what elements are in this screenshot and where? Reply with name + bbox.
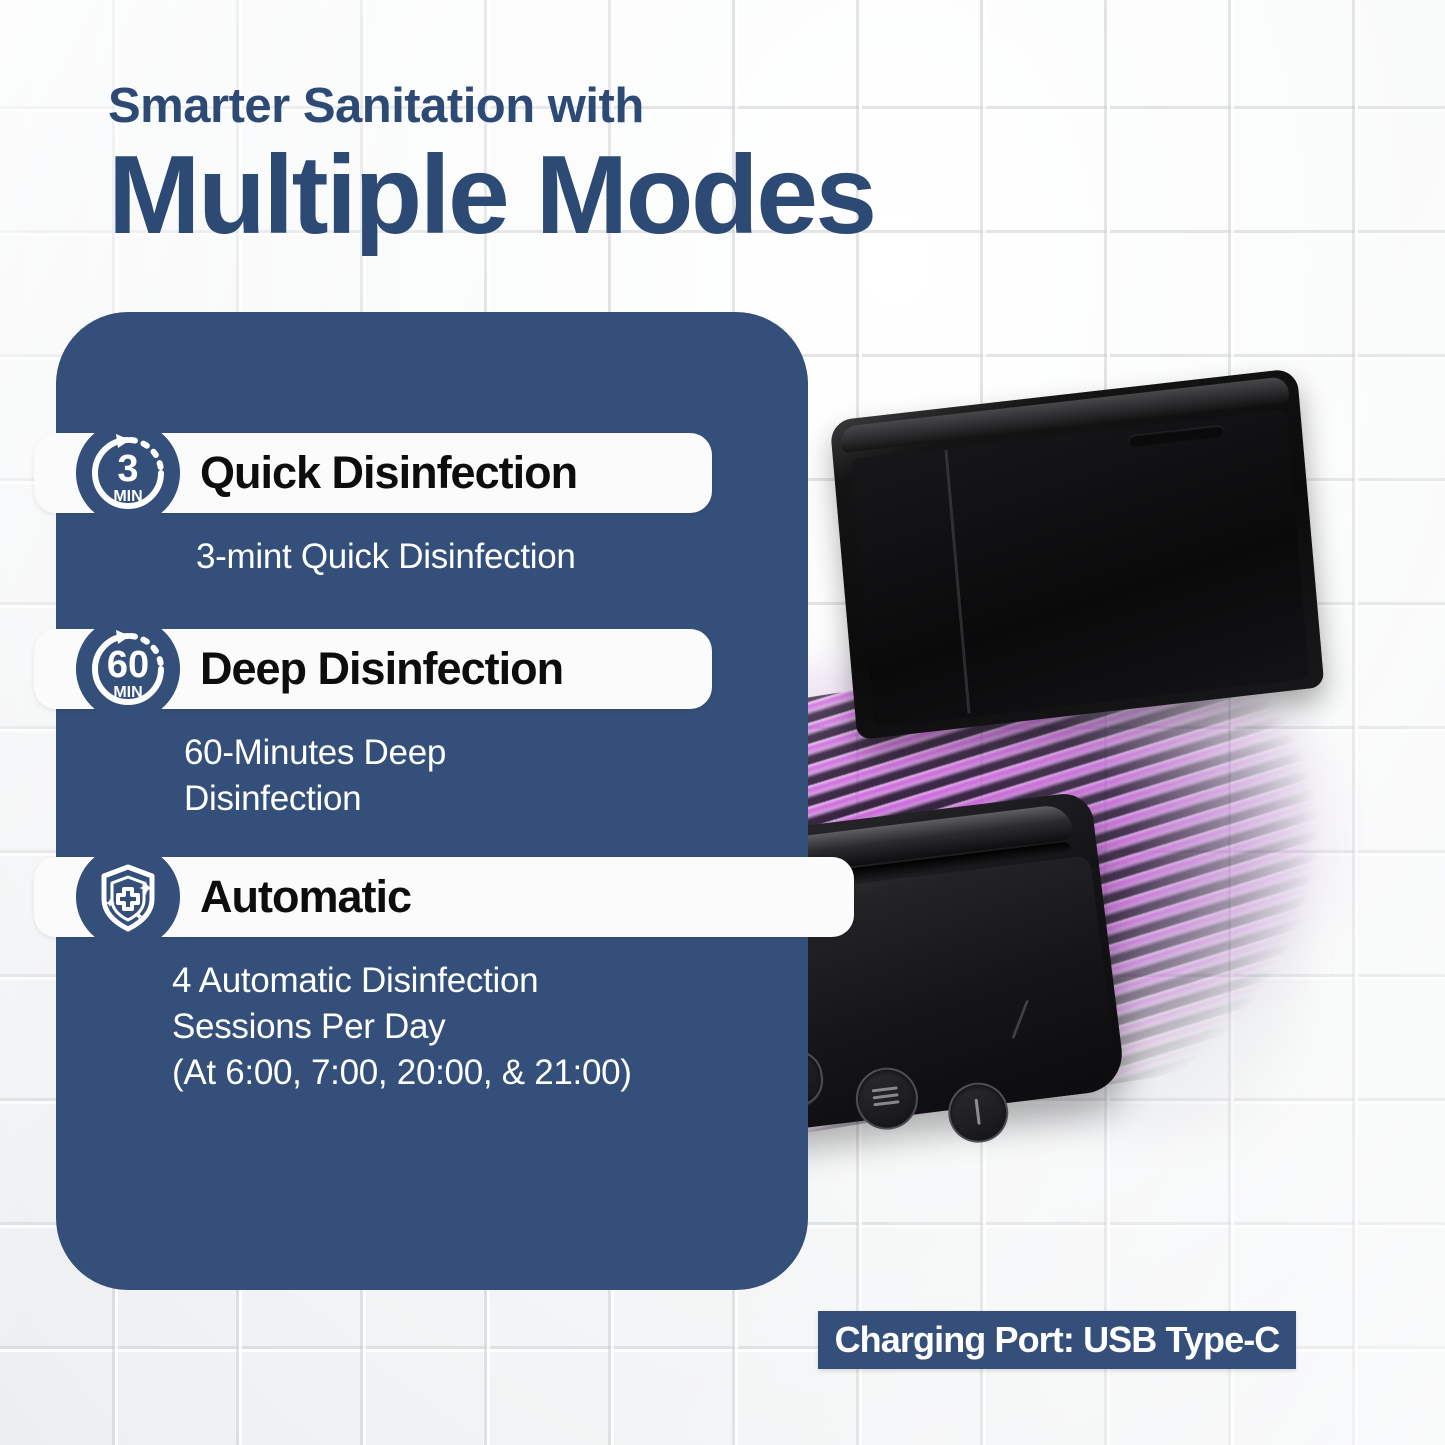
- feature-description-automatic-line2: Sessions Per Day: [172, 1004, 772, 1050]
- timer-unit-min: MIN: [113, 684, 142, 701]
- headline-mainline: Multiple Modes: [108, 139, 1108, 252]
- timer-60-min-icon: 60 MIN: [76, 617, 180, 721]
- feature-title-deep: Deep Disinfection: [200, 643, 563, 695]
- feature-description-deep-line2: Disinfection: [184, 776, 624, 822]
- feature-description-quick: 3-mint Quick Disinfection: [196, 534, 756, 580]
- charging-port-badge: Charging Port: USB Type-C: [818, 1311, 1296, 1369]
- feature-description-automatic: 4 Automatic Disinfection Sessions Per Da…: [172, 958, 772, 1097]
- page-title: Smarter Sanitation with Multiple Modes: [108, 82, 1108, 252]
- timer-value-3: 3: [117, 448, 138, 490]
- feature-description-automatic-line3: (At 6:00, 7:00, 20:00, & 21:00): [172, 1050, 772, 1096]
- feature-description-deep-line1: 60-Minutes Deep: [184, 730, 624, 776]
- feature-title-automatic: Automatic: [200, 871, 411, 923]
- brand-mark: [1011, 1000, 1054, 1043]
- headline-subline: Smarter Sanitation with: [108, 82, 1108, 131]
- timer-unit-min: MIN: [113, 488, 142, 505]
- charging-port-label: Charging Port: USB Type-C: [835, 1319, 1280, 1361]
- device-lid: [830, 368, 1325, 740]
- device-lid-inner-surface: [851, 409, 1310, 728]
- feature-title-quick: Quick Disinfection: [200, 447, 577, 499]
- timer-value-60: 60: [107, 644, 149, 686]
- feature-description-deep: 60-Minutes Deep Disinfection: [184, 730, 624, 822]
- feature-description-automatic-line1: 4 Automatic Disinfection: [172, 958, 772, 1004]
- feature-panel: Quick Disinfection 3 MIN 3-mint Quick Di…: [56, 312, 808, 1290]
- timer-3-min-icon: 3 MIN: [76, 421, 180, 525]
- shield-plus-sparkle-icon: [76, 845, 180, 949]
